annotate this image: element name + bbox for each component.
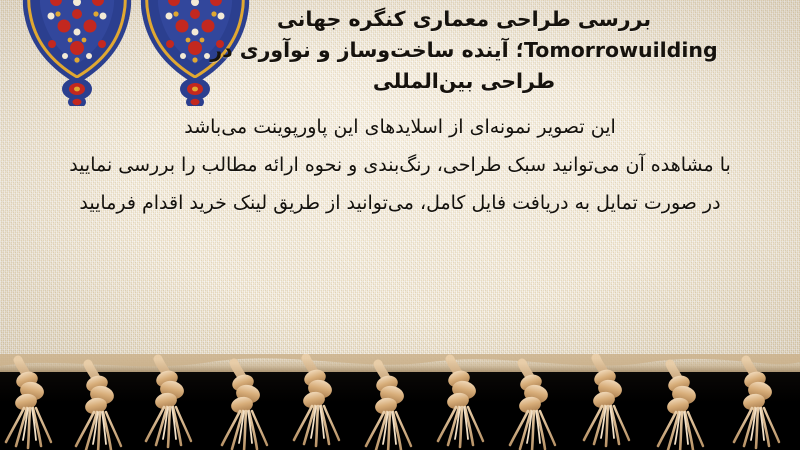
- body-line-1: این تصویر نمونه‌ای از اسلایدهای این پاور…: [0, 108, 800, 146]
- carpet-medallion-left-icon: [18, 0, 136, 106]
- slide-body: این تصویر نمونه‌ای از اسلایدهای این پاور…: [0, 108, 800, 222]
- body-line-3: در صورت تمایل به دریافت فایل کامل، می‌تو…: [0, 184, 800, 222]
- title-line-2: Tomorrowuilding؛ آینده ساخت‌وساز و نوآور…: [154, 35, 774, 66]
- title-line-3: طراحی بین‌المللی: [154, 66, 774, 97]
- body-line-2: با مشاهده آن می‌توانید سبک طراحی، رنگ‌بن…: [0, 146, 800, 184]
- carpet-fringe-tassels: [0, 354, 800, 450]
- title-line-1: بررسی طراحی معماری کنگره جهانی: [154, 4, 774, 35]
- slide-canvas: بررسی طراحی معماری کنگره جهانی Tomorrowu…: [0, 0, 800, 450]
- slide-title: بررسی طراحی معماری کنگره جهانی Tomorrowu…: [154, 4, 774, 97]
